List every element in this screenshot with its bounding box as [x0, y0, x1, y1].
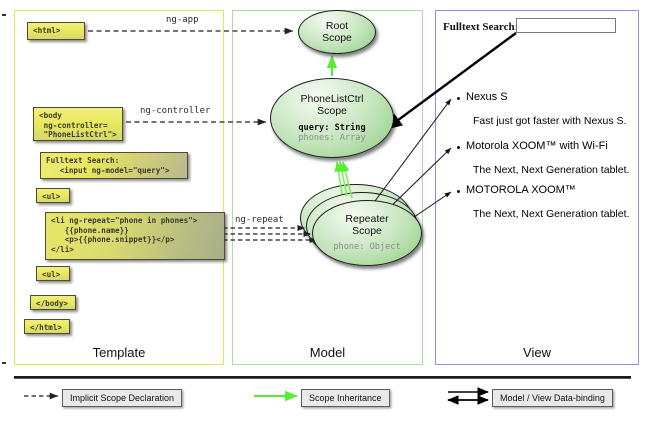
code-box-body-close: </body>	[30, 295, 76, 310]
list-item-snippet: Fast just got faster with Nexus S.	[473, 115, 626, 127]
scope-root-title-2: Scope	[322, 32, 352, 44]
scope-ctrl-title-1: PhoneListCtrl	[300, 93, 363, 105]
scope-phonelistctrl: PhoneListCtrl Scope query: String phones…	[270, 78, 394, 158]
panel-view-label: View	[436, 345, 638, 360]
label-ng-controller: ng-controller	[140, 106, 210, 116]
code-box-body-open: <body ng-controller= "PhoneListCtrl">	[33, 107, 123, 141]
legend-model-view-databinding: Model / View Data-binding	[492, 389, 613, 407]
scope-ctrl-title-2: Scope	[317, 105, 347, 117]
legend-scope-inheritance: Scope Inheritance	[301, 389, 390, 407]
list-item: Motorola XOOM™ with Wi-Fi	[466, 140, 608, 152]
edge-tick-top	[2, 14, 6, 16]
code-box-ul-open: <ul>	[36, 188, 70, 203]
scope-ctrl-prop-phones: phones: Array	[298, 133, 365, 144]
view-search-label: Fulltext Search:	[443, 21, 518, 33]
scope-ctrl-prop-query: query: String	[298, 123, 365, 134]
scope-repeater-prop-phone: phone: Object	[333, 242, 400, 253]
list-item-snippet: The Next, Next Generation tablet.	[473, 208, 629, 220]
code-box-html-open: <html>	[27, 22, 85, 40]
search-input[interactable]	[516, 18, 616, 33]
scope-repeater-title-1: Repeater	[345, 213, 388, 225]
list-item-snippet: The Next, Next Generation tablet.	[473, 164, 629, 176]
code-box-ul-close: <ul>	[36, 266, 70, 281]
scope-root-title-1: Root	[326, 20, 348, 32]
edge-tick-bottom	[2, 362, 6, 364]
scope-root: Root Scope	[298, 10, 376, 54]
panel-model-label: Model	[233, 345, 422, 360]
code-box-search-input: Fulltext Search: <input ng-model="query"…	[40, 152, 188, 179]
list-item: MOTOROLA XOOM™	[466, 184, 576, 196]
code-box-html-close: </html>	[24, 319, 70, 334]
scope-repeater-title-2: Scope	[352, 225, 382, 237]
label-ng-app: ng-app	[166, 15, 199, 25]
label-ng-repeat: ng-repeat	[235, 215, 284, 225]
legend-implicit-scope-declaration: Implicit Scope Declaration	[62, 389, 182, 407]
code-box-li-ng-repeat: <li ng-repeat="phone in phones"> {{phone…	[45, 212, 225, 260]
panel-template-label: Template	[15, 345, 223, 360]
legend-divider	[14, 376, 631, 379]
diagram-canvas: Template Model View <html> <body ng-cont…	[0, 0, 645, 425]
list-item: Nexus S	[466, 91, 508, 103]
scope-repeater: Repeater Scope phone: Object	[312, 200, 422, 266]
